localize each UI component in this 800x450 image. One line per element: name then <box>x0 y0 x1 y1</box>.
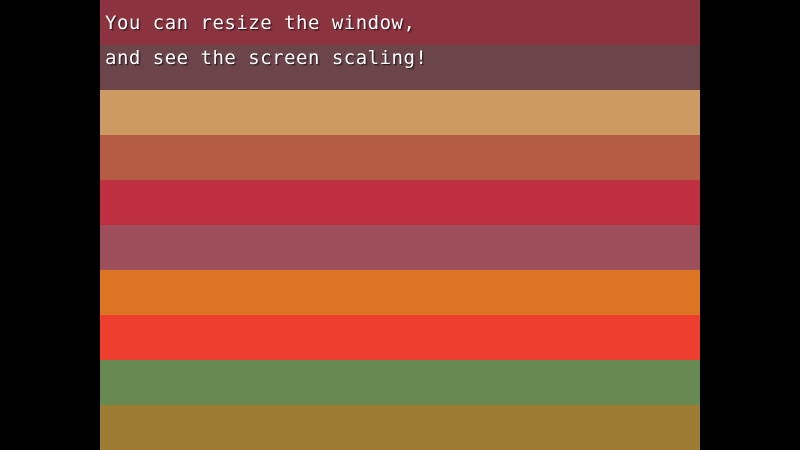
stripe-orange <box>100 270 700 315</box>
stripe-mauve <box>100 225 700 270</box>
app-window: You can resize the window, and see the s… <box>0 0 800 450</box>
stripe-crimson <box>100 180 700 225</box>
stripe-stack <box>100 0 700 450</box>
stripe-red-orange <box>100 315 700 360</box>
stripe-tan <box>100 90 700 135</box>
stripe-brick <box>100 135 700 180</box>
stripe-olive <box>100 405 700 450</box>
stripe-plum <box>100 45 700 90</box>
letterbox-bar-left <box>0 0 100 450</box>
letterbox-bar-right <box>700 0 800 450</box>
stripe-dark-red <box>100 0 700 45</box>
scaled-viewport <box>100 0 700 450</box>
stripe-green <box>100 360 700 405</box>
